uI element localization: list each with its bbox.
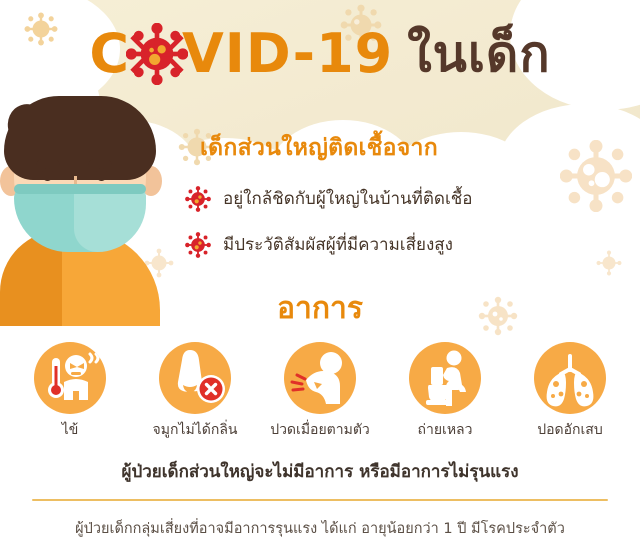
symptom-item-diarrhea: ถ่ายเหลว bbox=[385, 342, 505, 440]
symptoms-row: ไข้ จมูกไม่ได้กลิ่น bbox=[10, 342, 630, 440]
footer-highlight-text: ผู้ป่วยเด็กส่วนใหญ่จะไม่มีอาการ หรือมีอา… bbox=[0, 458, 640, 485]
virus-icon bbox=[126, 23, 188, 85]
infographic-poster: C VID- bbox=[0, 0, 640, 549]
eye-left bbox=[42, 168, 53, 181]
transmission-bullet-list: อยู่ใกล้ชิดกับผู้ใหญ่ในบ้านที่ติดเชื้อ bbox=[185, 182, 625, 274]
face-mask-top-edge bbox=[14, 184, 146, 194]
title-letter-c: C bbox=[89, 27, 130, 81]
title-thai: ในเด็ก bbox=[407, 29, 550, 79]
symptom-label: ไข้ bbox=[10, 422, 130, 440]
virus-bullet-icon bbox=[185, 186, 211, 212]
list-item-label: มีประวัติสัมผัสผู้ที่มีความเสี่ยงสูง bbox=[223, 235, 453, 255]
face-mask-highlight bbox=[74, 186, 146, 252]
symptom-label: ถ่ายเหลว bbox=[385, 422, 505, 440]
symptom-item-fever: ไข้ bbox=[10, 342, 130, 440]
list-item: อยู่ใกล้ชิดกับผู้ใหญ่ในบ้านที่ติดเชื้อ bbox=[185, 182, 625, 216]
poster-title: C VID- bbox=[0, 14, 640, 94]
nose-no-smell-icon bbox=[159, 342, 231, 414]
eye-right bbox=[96, 168, 107, 181]
list-item-label: อยู่ใกล้ชิดกับผู้ใหญ่ในบ้านที่ติดเชื้อ bbox=[223, 189, 473, 209]
list-item: มีประวัติสัมผัสผู้ที่มีความเสี่ยงสูง bbox=[185, 228, 625, 262]
boy-with-mask-illustration bbox=[0, 92, 166, 288]
symptom-item-no-smell: จมูกไม่ได้กลิ่น bbox=[135, 342, 255, 440]
footer-note-text: ผู้ป่วยเด็กกลุ่มเสี่ยงที่อาจมีอาการรุนแร… bbox=[0, 517, 640, 540]
fever-thermometer-icon bbox=[34, 342, 106, 414]
symptom-label: ปวดเมื่อยตามตัว bbox=[260, 422, 380, 440]
symptom-item-pneumonia: ปอดอักเสบ bbox=[510, 342, 630, 440]
symptoms-heading: อาการ bbox=[0, 285, 640, 332]
title-vid19: VID-19 bbox=[182, 27, 393, 81]
transmission-heading: เด็กส่วนใหญ่ติดเชื้อจาก bbox=[200, 130, 530, 166]
divider bbox=[32, 499, 608, 501]
diarrhea-toilet-icon bbox=[409, 342, 481, 414]
symptom-label: ปอดอักเสบ bbox=[510, 422, 630, 440]
symptom-item-body-ache: ปวดเมื่อยตามตัว bbox=[260, 342, 380, 440]
symptom-label: จมูกไม่ได้กลิ่น bbox=[135, 422, 255, 440]
lungs-pneumonia-icon bbox=[534, 342, 606, 414]
body-ache-icon bbox=[284, 342, 356, 414]
virus-bullet-icon bbox=[185, 232, 211, 258]
